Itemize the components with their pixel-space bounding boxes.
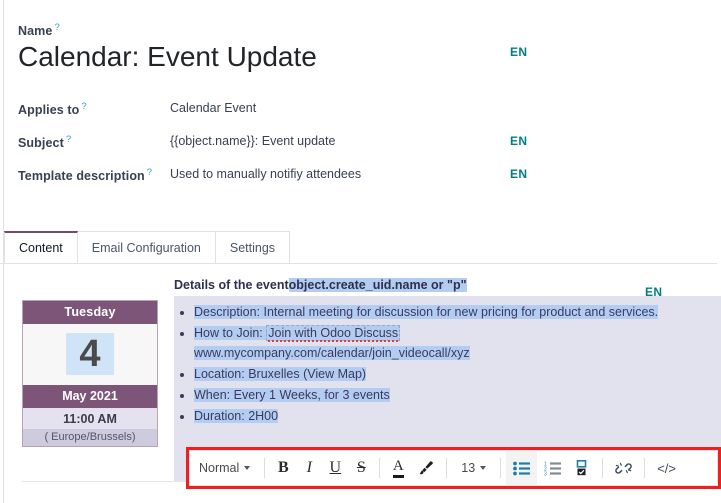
name-label-text: Name xyxy=(18,24,52,38)
paintbrush-icon xyxy=(418,460,434,476)
detail-duration-prefix: Duration: xyxy=(194,409,248,423)
applies-to-row: Applies to? Calendar Event xyxy=(18,101,87,117)
toolbar-separator xyxy=(602,458,603,478)
lang-badge-template-description[interactable]: EN xyxy=(510,167,527,181)
rich-text-editor-body[interactable]: Details of the eventobject.create_uid.na… xyxy=(174,276,721,427)
detail-duration-text: 2H00 xyxy=(248,409,278,423)
subject-row: Subject? {{object.name}}: Event update xyxy=(18,134,71,150)
rich-text-toolbar: Normal B I U S A 13 xyxy=(189,450,718,486)
template-description-row: Template description? Used to manually n… xyxy=(18,167,152,183)
editor-heading-static: Details of the event xyxy=(174,278,289,292)
calendar-month-year: May 2021 xyxy=(23,385,157,408)
tab-strip: Content Email Configuration Settings xyxy=(4,230,289,263)
italic-button[interactable]: I xyxy=(296,451,322,485)
italic-icon: I xyxy=(307,459,312,477)
code-icon: </> xyxy=(657,461,676,476)
help-icon-subject[interactable]: ? xyxy=(66,134,71,145)
list-item: When: Every 1 Weeks, for 3 events xyxy=(194,385,721,405)
detail-location-text: Bruxelles (View Map) xyxy=(248,367,366,381)
detail-when-text: Every 1 Weeks, for 3 events xyxy=(234,388,390,402)
paragraph-style-dropdown[interactable]: Normal xyxy=(190,451,259,485)
calendar-timezone: ( Europe/Brussels) xyxy=(23,429,157,446)
template-description-label: Template description xyxy=(18,169,145,183)
help-icon-applies-to[interactable]: ? xyxy=(81,101,86,112)
toolbar-separator xyxy=(644,458,645,478)
detail-description-text: Internal meeting for discussion for new … xyxy=(263,305,658,319)
font-size-dropdown[interactable]: 13 xyxy=(452,451,495,485)
strikethrough-button[interactable]: S xyxy=(348,451,374,485)
underline-button[interactable]: U xyxy=(322,451,348,485)
toolbar-separator xyxy=(264,458,265,478)
calendar-day-of-week: Tuesday xyxy=(23,301,157,324)
editor-heading: Details of the eventobject.create_uid.na… xyxy=(174,276,721,294)
code-view-button[interactable]: </> xyxy=(650,451,683,485)
applies-to-label: Applies to xyxy=(18,103,79,117)
event-details-list: Description: Internal meeting for discus… xyxy=(174,302,721,426)
list-item: Description: Internal meeting for discus… xyxy=(194,302,721,322)
help-icon-name[interactable]: ? xyxy=(54,22,59,33)
subject-label: Subject xyxy=(18,136,64,150)
calendar-time: 11:00 AM xyxy=(23,408,157,429)
font-size-label: 13 xyxy=(461,461,475,475)
checklist-button[interactable] xyxy=(568,451,597,485)
detail-when-prefix: When: xyxy=(194,388,234,402)
calendar-day-number: 4 xyxy=(66,333,113,375)
checklist-icon xyxy=(575,460,590,476)
editor-heading-placeholder: object.create_uid.name or "p" xyxy=(289,278,467,292)
unlink-button[interactable] xyxy=(608,451,639,485)
list-item: How to Join: Join with Odoo Discuss www.… xyxy=(194,323,721,363)
chevron-down-icon xyxy=(244,466,250,470)
tab-email-configuration[interactable]: Email Configuration xyxy=(77,231,216,263)
applies-to-value[interactable]: Calendar Event xyxy=(170,101,256,115)
paragraph-style-label: Normal xyxy=(199,461,239,475)
detail-join-url[interactable]: www.mycompany.com/calendar/join_videocal… xyxy=(194,346,470,360)
bulleted-list-button[interactable] xyxy=(506,451,537,485)
name-field-label: Name? xyxy=(18,22,60,38)
event-date-card: Tuesday 4 May 2021 11:00 AM ( Europe/Bru… xyxy=(22,300,158,447)
bold-icon: B xyxy=(278,459,289,477)
font-color-button[interactable]: A xyxy=(385,451,411,485)
bold-button[interactable]: B xyxy=(270,451,296,485)
toolbar-separator xyxy=(446,458,447,478)
unlink-icon xyxy=(615,461,632,476)
lang-badge-name[interactable]: EN xyxy=(510,45,527,59)
join-discuss-link[interactable]: Join with Odoo Discuss xyxy=(266,325,400,341)
help-icon-template-description[interactable]: ? xyxy=(147,167,152,178)
background-color-button[interactable] xyxy=(411,451,441,485)
template-description-value[interactable]: Used to manually notifiy attendees xyxy=(170,167,361,181)
detail-join-prefix: How to Join: xyxy=(194,326,266,340)
underline-icon: U xyxy=(330,459,342,477)
subject-value[interactable]: {{object.name}}: Event update xyxy=(170,134,335,148)
bulleted-list-icon xyxy=(513,461,530,476)
toolbar-separator xyxy=(379,458,380,478)
list-item: Duration: 2H00 xyxy=(194,406,721,426)
lang-badge-subject[interactable]: EN xyxy=(510,134,527,148)
font-color-icon: A xyxy=(393,459,404,478)
list-item: Location: Bruxelles (View Map) xyxy=(194,364,721,384)
chevron-down-icon xyxy=(480,466,486,470)
detail-description-prefix: Description: xyxy=(194,305,263,319)
strikethrough-icon: S xyxy=(357,459,366,477)
tab-settings[interactable]: Settings xyxy=(215,231,290,263)
calendar-day-wrapper: 4 xyxy=(23,324,157,385)
detail-join-text: Join with Odoo Discuss xyxy=(268,326,398,342)
email-template-form-page: Name? Calendar: Event Update EN Applies … xyxy=(0,0,721,503)
numbered-list-button[interactable]: 1 2 3 xyxy=(537,451,568,485)
tab-content[interactable]: Content xyxy=(4,231,78,263)
numbered-list-icon: 1 2 3 xyxy=(544,461,561,476)
toolbar-separator xyxy=(500,458,501,478)
page-title[interactable]: Calendar: Event Update xyxy=(18,40,317,74)
detail-location-prefix: Location: xyxy=(194,367,248,381)
svg-text:3: 3 xyxy=(544,471,547,476)
tab-bar: Content Email Configuration Settings xyxy=(4,230,721,264)
